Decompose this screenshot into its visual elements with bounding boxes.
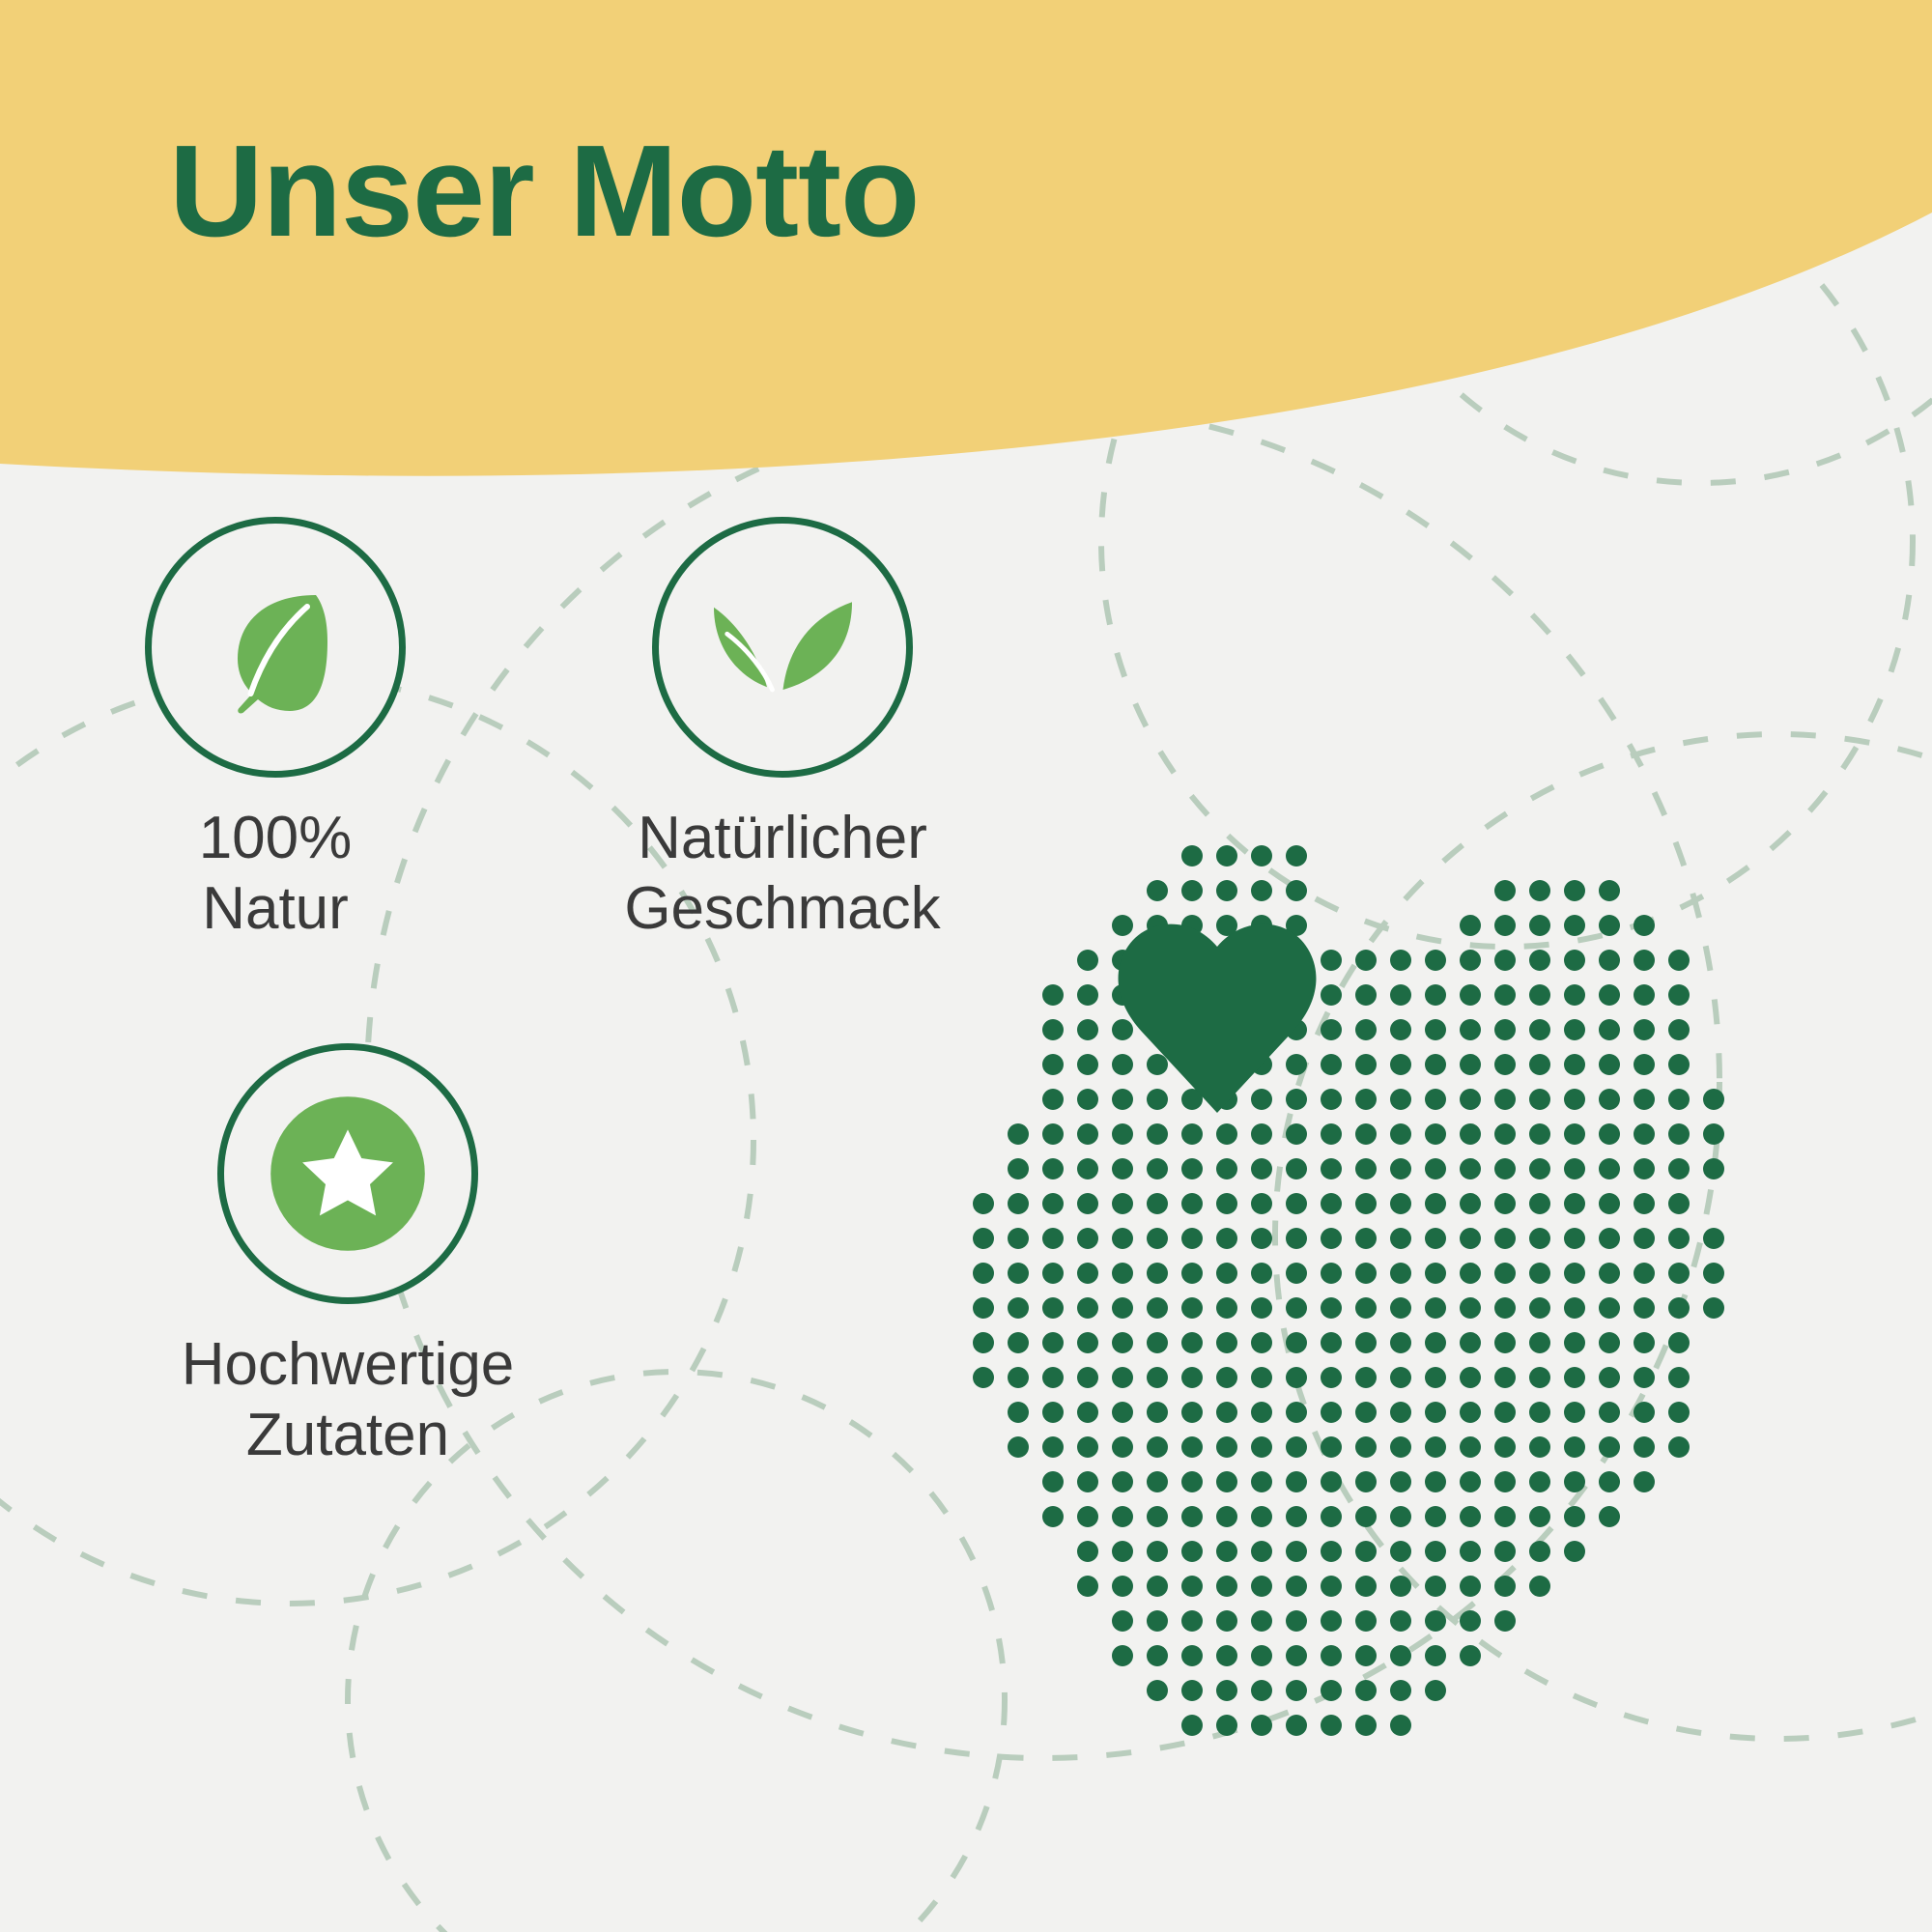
feature-item-natur: 100% Natur (106, 517, 444, 944)
badge-ring (217, 1043, 478, 1304)
page-title: Unser Motto (169, 126, 919, 256)
star-badge-icon (256, 1082, 440, 1265)
feature-label: Natürlicher Geschmack (541, 803, 1024, 944)
motto-infographic: Unser Motto 100% Natur Natürlicher Gesch… (0, 0, 1932, 1932)
germany-dotted-map (966, 840, 1739, 1787)
header-banner: Unser Motto (0, 0, 1932, 502)
heart-icon (1119, 924, 1317, 1113)
feature-item-geschmack: Natürlicher Geschmack (541, 517, 1024, 944)
badge-ring (145, 517, 406, 778)
feature-label: 100% Natur (106, 803, 444, 944)
double-leaf-icon (703, 575, 863, 720)
feature-item-zutaten: Hochwertige Zutaten (77, 1043, 618, 1470)
leaf-icon (203, 575, 348, 720)
badge-ring (652, 517, 913, 778)
feature-label: Hochwertige Zutaten (77, 1329, 618, 1470)
